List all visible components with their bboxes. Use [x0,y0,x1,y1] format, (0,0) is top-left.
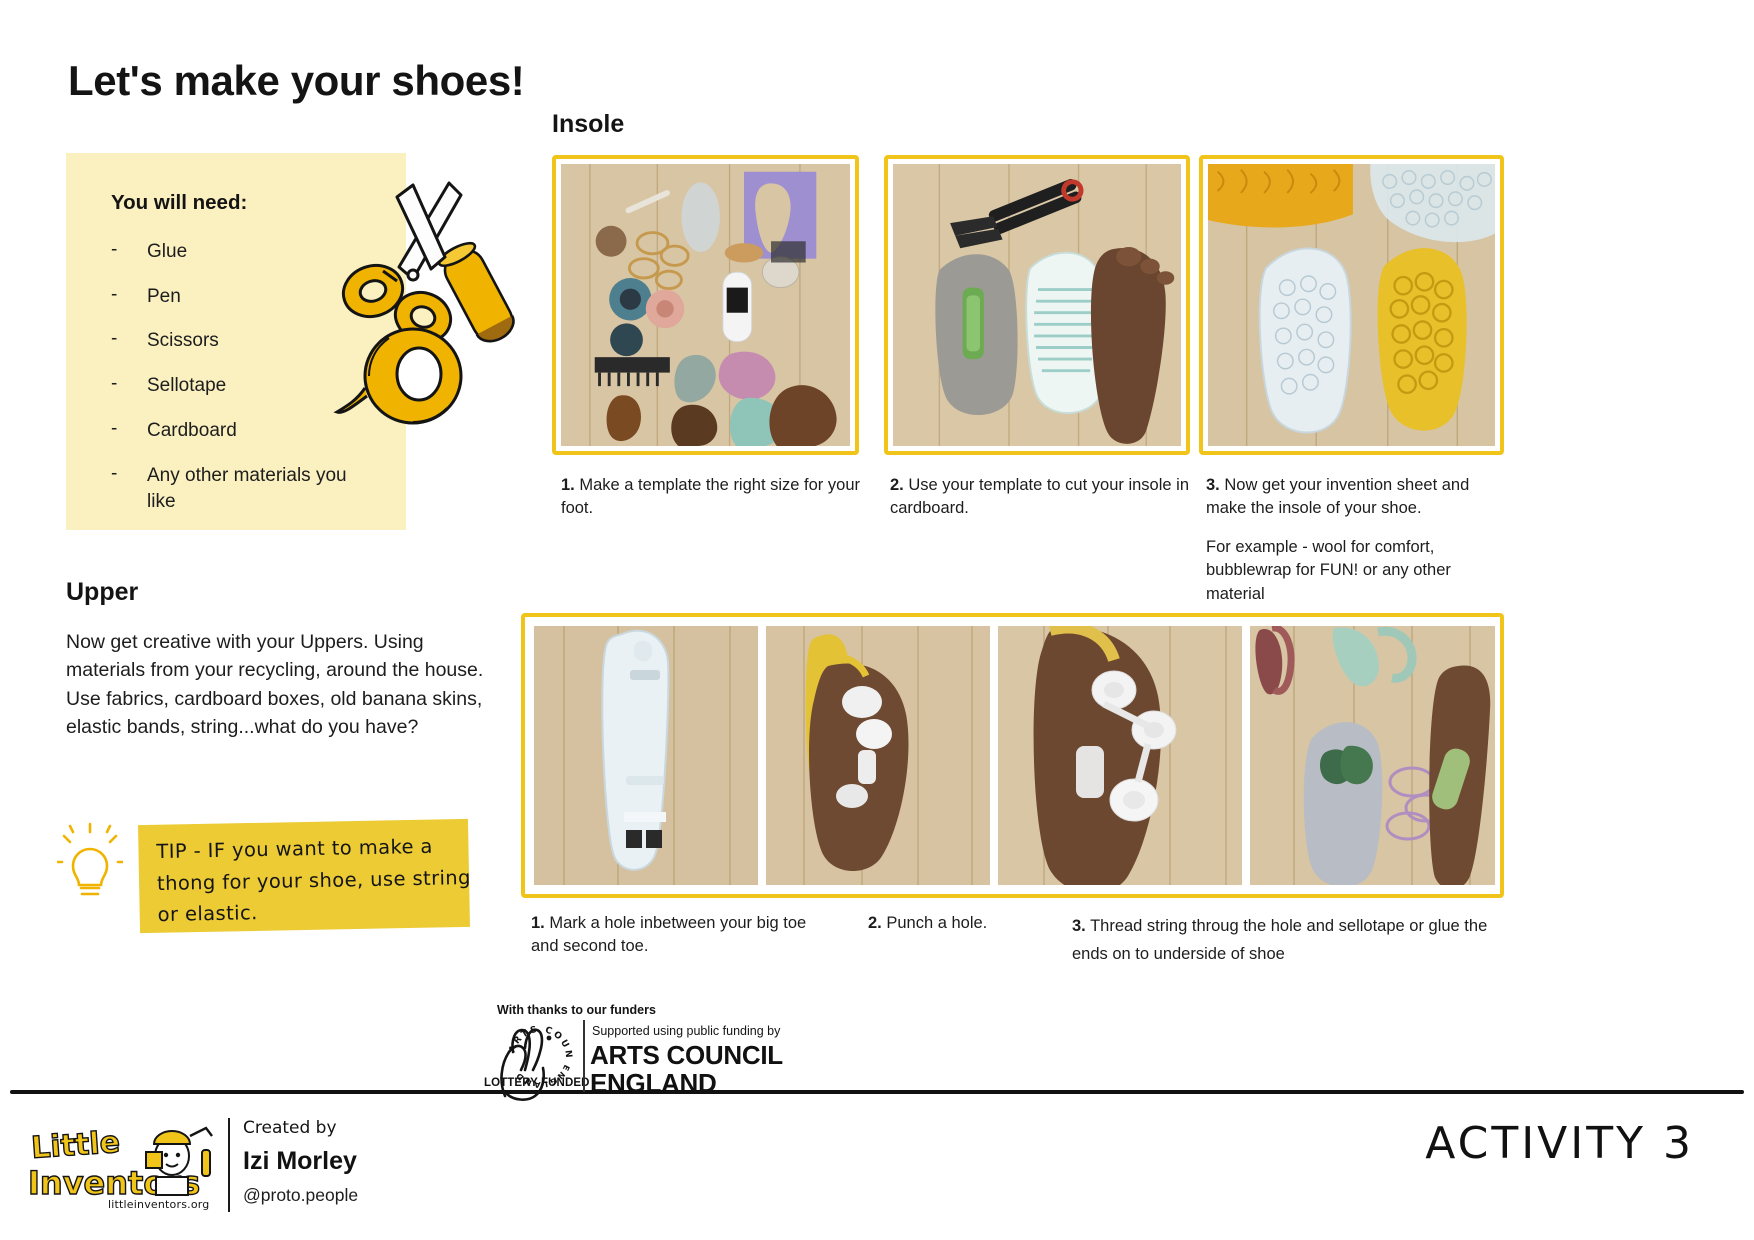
bubblewrap-and-wool-insoles-photo [1208,164,1495,446]
tip-text: TIP - IF you want to make a thong for yo… [156,830,478,931]
upper-paragraph: Now get creative with your Uppers. Using… [66,628,491,741]
material-label: Pen [147,284,181,310]
svg-text:ENGLAND: ENGLAND [513,1063,571,1089]
insole-step-2-caption: 2. Use your template to cut your insole … [890,474,1190,521]
material-label: Cardboard [147,418,237,444]
step-number: 3. [1206,476,1220,494]
step-extra-text: For example - wool for comfort, bubblewr… [1206,536,1514,606]
footer-divider-rule [10,1090,1744,1094]
insole-heading: Insole [552,110,624,139]
flip-flop-template-photo [534,626,758,885]
arts-council-line-1: ARTS COUNCIL [590,1042,783,1070]
upper-step-1-caption: 1. Mark a hole inbetween your big toe an… [531,912,831,959]
material-label: Sellotape [147,373,226,399]
materials-heading: You will need: [111,191,247,215]
upper-photo-4 [1250,626,1495,885]
svg-text:ARTS COUNCIL: ARTS COUNCIL [504,1018,573,1060]
insole-step-1-photo-frame [552,155,859,455]
svg-text:Little: Little [30,1125,121,1166]
footer-divider-1 [228,1118,230,1212]
insole-step-3-photo-frame [1199,155,1504,455]
arts-council-name: ARTS COUNCIL ENGLAND [590,1042,783,1097]
material-label: Scissors [147,328,219,354]
activity-sheet-page: Let's make your shoes! You will need: - … [0,0,1754,1240]
insole-step-1-caption: 1. Make a template the right size for yo… [561,474,861,521]
upper-photo-2 [766,626,990,885]
step-number: 1. [531,914,545,932]
footer-divider-2 [583,1020,585,1092]
upper-heading: Upper [66,578,138,607]
arts-council-line-2: ENGLAND [590,1070,783,1098]
lightbulb-icon [57,822,123,902]
upper-photo-strip-frame [521,613,1504,898]
step-number: 1. [561,476,575,494]
upper-photo-3 [998,626,1242,885]
arts-council-seal-icon: ARTS COUNCIL ENGLAND [504,1018,576,1090]
material-label: Glue [147,239,187,265]
step-number: 2. [890,476,904,494]
insole-step-3-caption: 3. Now get your invention sheet and make… [1206,474,1514,606]
materials-box: You will need: - Glue - Pen - Scissors -… [66,153,406,530]
bullet-dash: - [111,239,147,265]
page-title: Let's make your shoes! [68,57,524,105]
step-text: Punch a hole. [886,914,987,932]
list-item: - Any other materials you like [111,463,391,515]
step-text: Thread string throug the hole and sellot… [1072,917,1487,963]
arts-council-supported-text: Supported using public funding by [592,1024,780,1038]
step-text: Mark a hole inbetween your big toe and s… [531,914,806,955]
bullet-dash: - [111,284,147,310]
bullet-dash: - [111,373,147,399]
created-by-label: Created by [243,1118,337,1138]
cardboard-insole-and-foot-photo [893,164,1181,446]
foot-with-bottle-caps-photo [998,626,1242,885]
step-text: Make a template the right size for your … [561,476,860,517]
upper-step-3-caption: 3. Thread string throug the hole and sel… [1072,912,1512,969]
step-number: 3. [1072,917,1086,935]
funders-label: With thanks to our funders [497,1003,656,1017]
author-handle: @proto.people [243,1185,358,1206]
craft-materials-flatlay-photo [561,164,850,446]
tape-roll-icon [331,318,481,448]
bullet-dash: - [111,328,147,354]
author-name: Izi Morley [243,1147,357,1176]
bullet-dash: - [111,463,147,515]
insole-with-string-photo [1250,626,1495,885]
upper-step-2-caption: 2. Punch a hole. [868,912,1088,935]
foot-with-strap-photo [766,626,990,885]
upper-photo-1 [534,626,758,885]
material-label: Any other materials you like [147,463,357,515]
little-inventors-url: littleinventors.org [108,1198,209,1211]
bullet-dash: - [111,418,147,444]
step-number: 2. [868,914,882,932]
activity-number-label: ACTIVITY 3 [1425,1118,1694,1169]
step-text: Now get your invention sheet and make th… [1206,476,1469,517]
step-text: Use your template to cut your insole in … [890,476,1189,517]
insole-step-2-photo-frame [884,155,1190,455]
